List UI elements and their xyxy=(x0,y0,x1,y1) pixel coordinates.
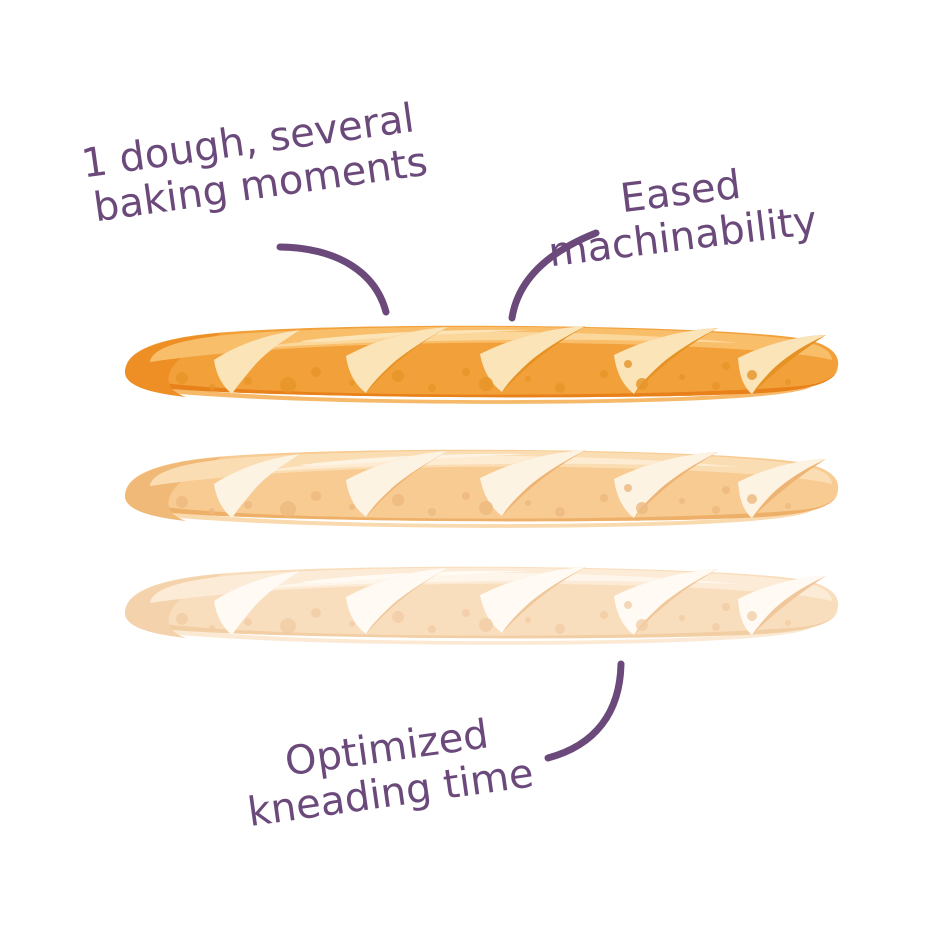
baguette-bottom-raw-dough xyxy=(125,567,838,645)
baguette-middle-medium-baked xyxy=(125,450,838,528)
label-eased-machinability: Eased machinability xyxy=(540,153,819,276)
illustration-canvas: 1 dough, several baking moments Eased ma… xyxy=(0,0,938,939)
baguette-bake-levels-illustration: 1 dough, several baking moments Eased ma… xyxy=(0,0,938,939)
baguette-top-well-baked xyxy=(125,326,838,404)
connector-curve-bottom xyxy=(548,664,621,758)
label-optimized-kneading-time: Optimized kneading time xyxy=(239,706,537,836)
connector-curve-top-left xyxy=(280,247,386,312)
label-one-dough-several-baking-moments: 1 dough, several baking moments xyxy=(79,94,431,232)
